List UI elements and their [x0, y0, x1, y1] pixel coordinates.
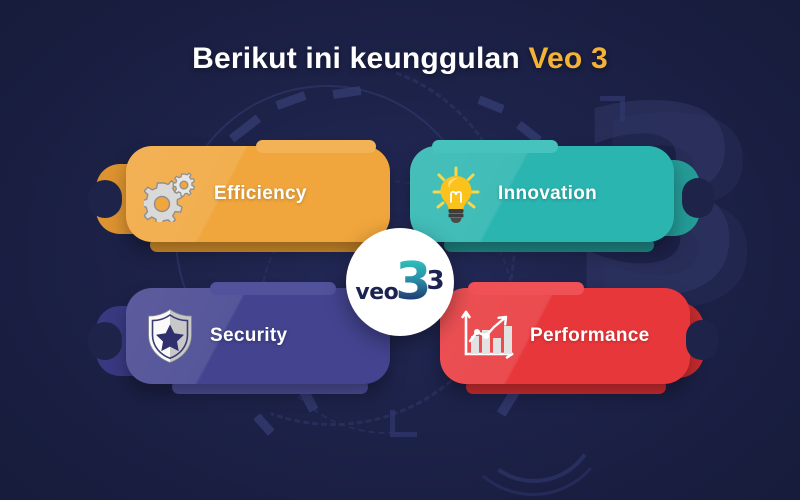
- shield-star-icon: [144, 307, 196, 365]
- card-tab-notch-innovation: [682, 178, 714, 218]
- page-title-accent: Veo 3: [528, 42, 607, 75]
- card-topbar-performance: [468, 282, 584, 295]
- feature-card-performance[interactable]: Performance: [440, 288, 690, 384]
- card-topbar-innovation: [432, 140, 558, 153]
- feature-card-label: Security: [210, 325, 287, 347]
- feature-card-label: Performance: [530, 325, 649, 347]
- feature-card-label: Innovation: [498, 183, 597, 205]
- feature-card-efficiency[interactable]: Efficiency: [126, 146, 390, 242]
- lightbulb-icon: [428, 164, 484, 224]
- feature-card-innovation[interactable]: Innovation: [410, 146, 674, 242]
- bar-chart-growth-icon: [458, 308, 516, 364]
- logo-wordmark: veo: [355, 280, 398, 305]
- logo-big-numeral: 3: [395, 260, 428, 304]
- hud-corner-bracket: [390, 410, 417, 437]
- page-title: Berikut ini keunggulan Veo 3: [0, 42, 800, 76]
- gear-icon: [144, 166, 200, 222]
- card-tab-notch-efficiency: [88, 180, 122, 218]
- card-topbar-efficiency: [256, 140, 376, 153]
- card-topbar-security: [210, 282, 336, 295]
- infographic-canvas: 3 3 Berikut ini keunggulan Veo 3: [0, 0, 800, 500]
- veo3-logo-badge[interactable]: veo 3 3: [346, 228, 454, 336]
- page-title-lead: Berikut ini keunggulan: [192, 42, 528, 75]
- logo-small-numeral: 3: [426, 266, 444, 296]
- veo3-logo: veo 3 3: [355, 260, 444, 305]
- feature-card-label: Efficiency: [214, 183, 307, 205]
- card-tab-notch-security: [88, 322, 122, 360]
- hud-corner-bracket: [600, 96, 625, 121]
- card-tab-notch-performance: [686, 320, 718, 360]
